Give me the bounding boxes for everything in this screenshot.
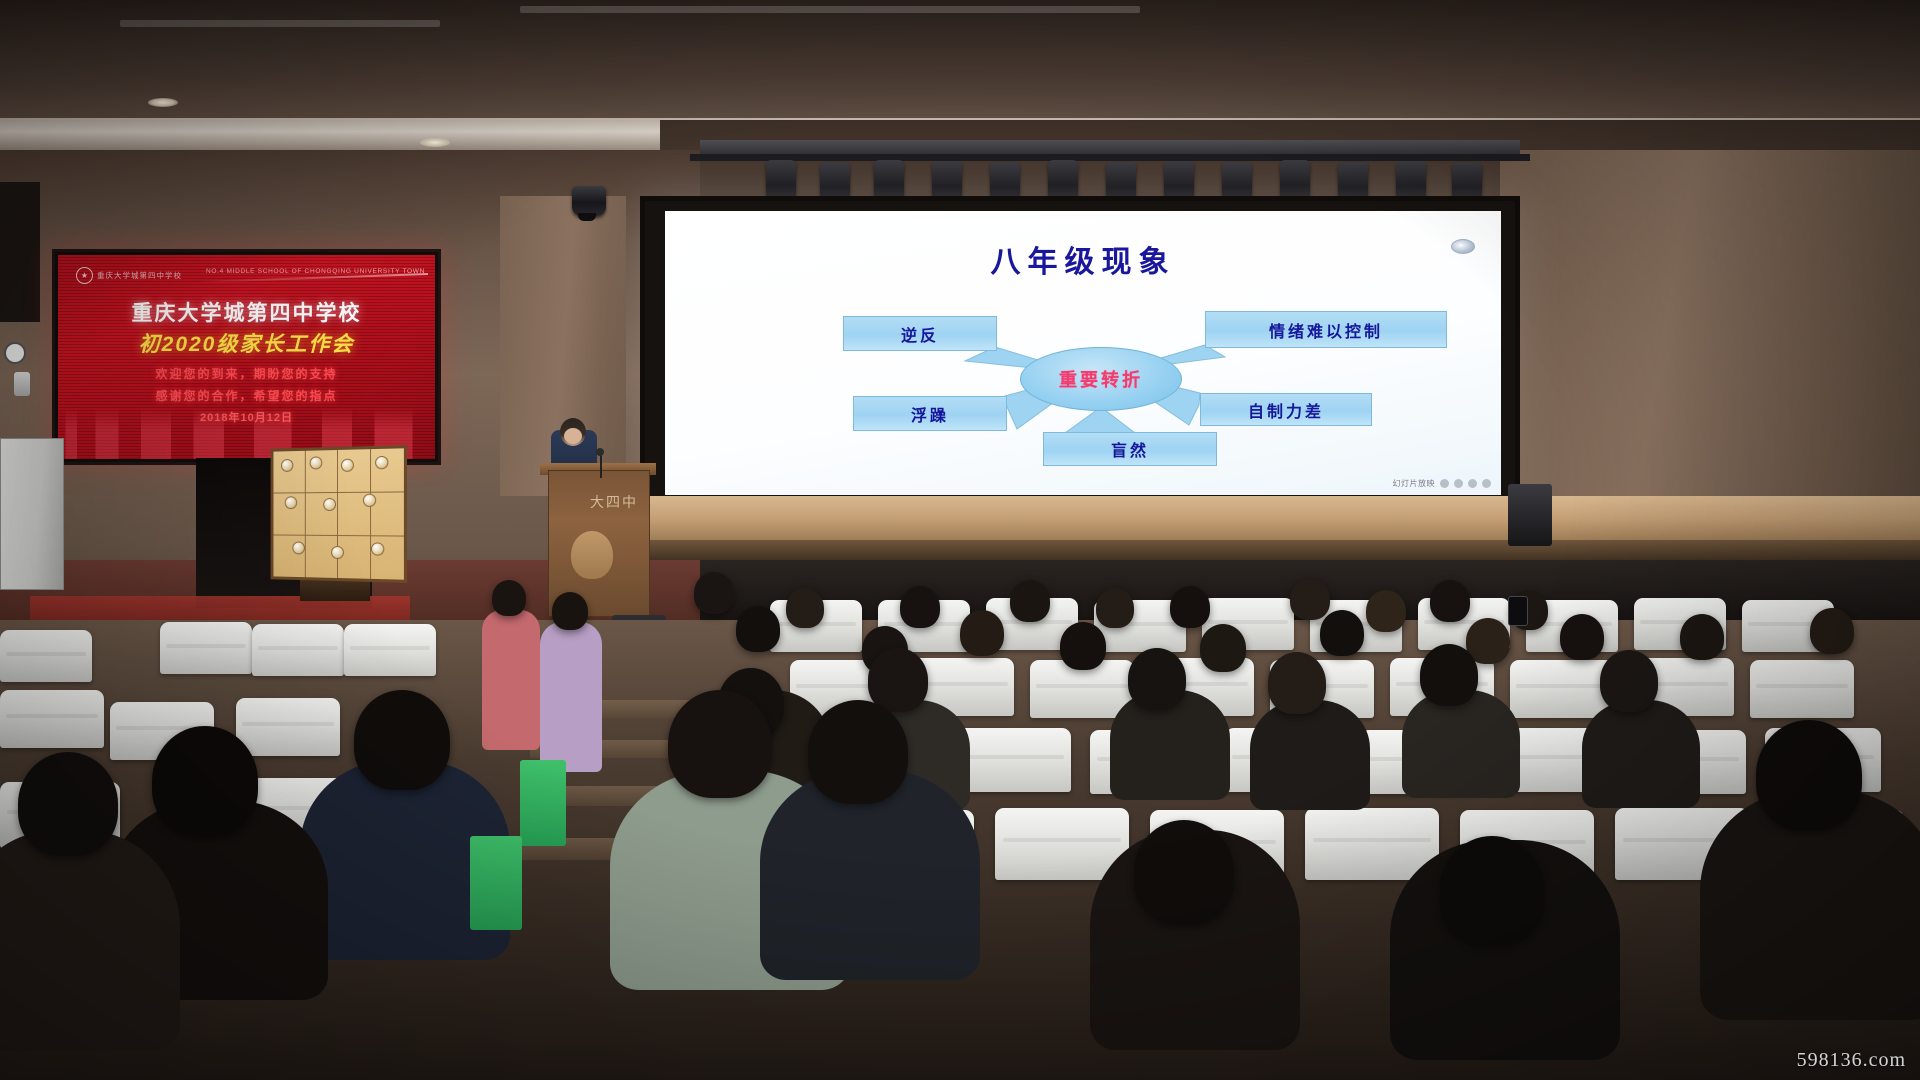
ceiling-slot-1 xyxy=(120,20,440,27)
audience-head xyxy=(1060,622,1106,670)
presentation-slide: 八年级现象 逆反 情绪难以控制 浮躁 自制力差 盲然 重要转折 幻灯片放映 xyxy=(665,211,1501,495)
audience-head xyxy=(960,610,1004,656)
led-english-line: NO.4 MIDDLE SCHOOL OF CHONGQING UNIVERSI… xyxy=(206,268,425,275)
led-school-logo: ★ 重庆大学城第四中学校 xyxy=(76,267,182,284)
audience-head xyxy=(1268,652,1326,714)
audience-head xyxy=(1010,580,1050,622)
audience-shoulders xyxy=(1250,700,1370,810)
audience-head xyxy=(18,752,118,856)
stage-edge xyxy=(620,540,1920,562)
green-bag xyxy=(470,836,522,930)
slide-node-qingxu: 情绪难以控制 xyxy=(1205,311,1447,348)
wall-panel-left xyxy=(0,182,40,322)
audience-head xyxy=(1600,650,1658,712)
pen-icon[interactable] xyxy=(1440,479,1449,488)
projector-box xyxy=(572,186,606,216)
led-banner-subtitle: 初2020级家长工作会 xyxy=(58,328,435,358)
floor-speaker-right xyxy=(1508,484,1552,546)
audience-shoulders xyxy=(1402,690,1520,798)
audience-chair xyxy=(0,630,92,682)
photograph-auditorium-scene: ★ 重庆大学城第四中学校 NO.4 MIDDLE SCHOOL OF CHONG… xyxy=(0,0,1920,1080)
slideshow-status-bar[interactable]: 幻灯片放映 xyxy=(1393,478,1492,489)
audience-head xyxy=(1560,614,1604,660)
audience-head xyxy=(1170,586,1210,628)
audience-head xyxy=(1290,578,1330,620)
downlight-1 xyxy=(148,98,178,107)
audience-head xyxy=(1366,590,1406,632)
audience-head xyxy=(1096,588,1134,628)
chinese-chess-demo-board xyxy=(271,445,407,583)
slide-node-mangran: 盲然 xyxy=(1043,432,1217,466)
led-logo-text: 重庆大学城第四中学校 xyxy=(97,270,182,281)
podium-front-text: 大四中 xyxy=(590,492,638,512)
audience-head xyxy=(1756,720,1862,830)
audience-head xyxy=(1680,614,1724,660)
ceiling-slot-2 xyxy=(520,6,1140,13)
led-banner-inner: ★ 重庆大学城第四中学校 NO.4 MIDDLE SCHOOL OF CHONG… xyxy=(58,255,435,459)
audience-head xyxy=(1200,624,1246,672)
attendee-standing-head xyxy=(492,580,526,616)
downlight-2 xyxy=(420,138,450,147)
slideshow-status-label: 幻灯片放映 xyxy=(1393,478,1436,489)
audience-head xyxy=(1134,820,1234,924)
audience-chair xyxy=(0,690,104,748)
audience-head xyxy=(1810,608,1854,654)
pointer-icon[interactable] xyxy=(1454,479,1463,488)
led-banner-line-1: 欢迎您的到来，期盼您的支持 xyxy=(58,365,435,382)
audience-shoulders xyxy=(0,830,180,1050)
screen-icon[interactable] xyxy=(1482,479,1491,488)
school-crest-icon: ★ xyxy=(76,267,93,284)
slide-node-fuzao: 浮躁 xyxy=(853,396,1007,431)
audience-head xyxy=(1440,836,1544,944)
audience-head xyxy=(808,700,908,804)
smartphone-raised xyxy=(1508,596,1528,626)
audience-chair xyxy=(955,728,1071,792)
watermark: 598136.com xyxy=(1797,1049,1906,1072)
led-banner-title: 重庆大学城第四中学校 xyxy=(58,297,435,327)
school-emblem-icon xyxy=(571,531,613,579)
audience-head xyxy=(152,726,258,836)
audience-head xyxy=(668,690,772,798)
audience-chair xyxy=(344,624,436,676)
attendee-standing-head xyxy=(552,592,588,630)
audience-head xyxy=(736,606,780,652)
led-banner-line-2: 感谢您的合作，希望您的指点 xyxy=(58,387,435,404)
audience-chair xyxy=(252,624,344,676)
slide-node-zizhi: 自制力差 xyxy=(1200,393,1372,426)
audience-shoulders xyxy=(1582,700,1700,808)
slide-center-node: 重要转折 xyxy=(1020,347,1182,411)
audience-chair xyxy=(160,622,252,674)
audience-head xyxy=(900,586,940,628)
lighting-truss-bar xyxy=(690,154,1530,161)
projection-screen: 八年级现象 逆反 情绪难以控制 浮躁 自制力差 盲然 重要转折 幻灯片放映 xyxy=(640,196,1520,506)
audience-chair xyxy=(1750,660,1854,718)
attendee-standing xyxy=(540,622,602,772)
attendee-standing xyxy=(482,610,540,750)
audience-head xyxy=(1430,580,1470,622)
green-bag xyxy=(520,760,566,846)
audience-chair xyxy=(236,698,340,756)
audience-head xyxy=(354,690,450,790)
presenter-face xyxy=(564,428,582,444)
audience-head xyxy=(1128,648,1186,710)
audience-head xyxy=(786,588,824,628)
audience-chair xyxy=(1510,660,1614,718)
audience-head xyxy=(694,572,734,614)
wall-phone-icon xyxy=(14,372,30,396)
menu-icon[interactable] xyxy=(1468,479,1477,488)
led-banner-date: 2018年10月12日 xyxy=(58,409,435,425)
led-banner-screen: ★ 重庆大学城第四中学校 NO.4 MIDDLE SCHOOL OF CHONG… xyxy=(52,249,441,465)
audience-head xyxy=(1420,644,1478,706)
stage-apron xyxy=(620,496,1920,542)
microphone-icon xyxy=(596,448,604,456)
slide-node-nifan: 逆反 xyxy=(843,316,997,351)
wall-cabinet xyxy=(0,438,64,590)
audience-head xyxy=(1320,610,1364,656)
audience-head xyxy=(868,648,928,712)
wall-clock-icon xyxy=(4,342,26,364)
